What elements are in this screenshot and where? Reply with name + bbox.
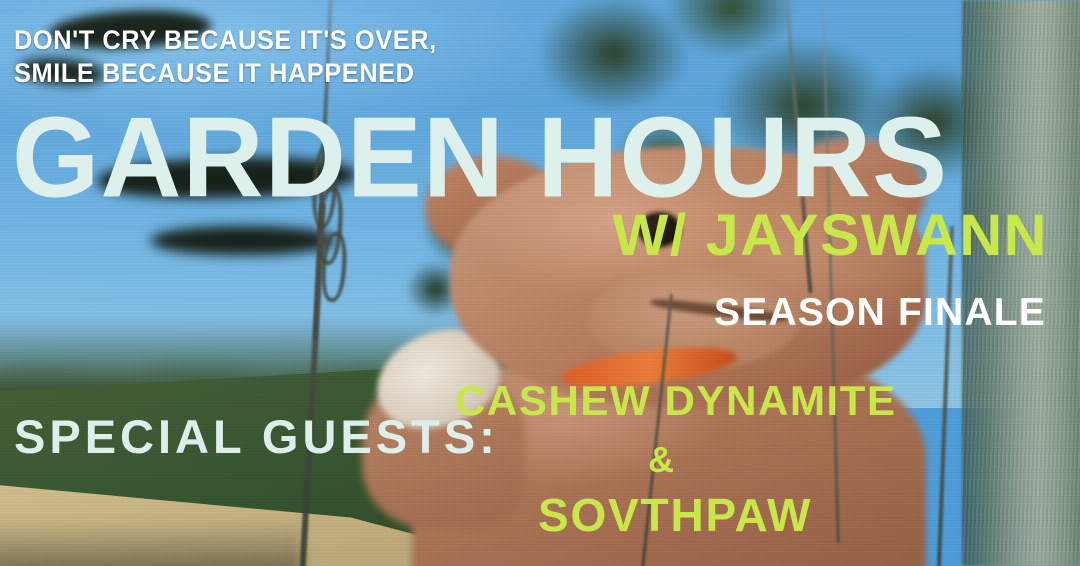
flyer-canvas: Don't cry because it's over, smile becau…	[0, 0, 1080, 566]
guest-ampersand: &	[648, 440, 674, 480]
episode-tag: Season Finale	[714, 292, 1046, 334]
special-guests-label: Special Guests:	[14, 412, 499, 462]
show-title: Garden Hours	[12, 100, 948, 214]
tagline-kicker: Don't cry because it's over, smile becau…	[14, 24, 437, 90]
host-credit: w/ Jayswann	[613, 206, 1048, 266]
guest-name-one: Cashew Dynamite	[455, 378, 897, 424]
guest-name-two: Sovthpaw	[538, 490, 812, 540]
text-overlay: Don't cry because it's over, smile becau…	[0, 0, 1080, 566]
